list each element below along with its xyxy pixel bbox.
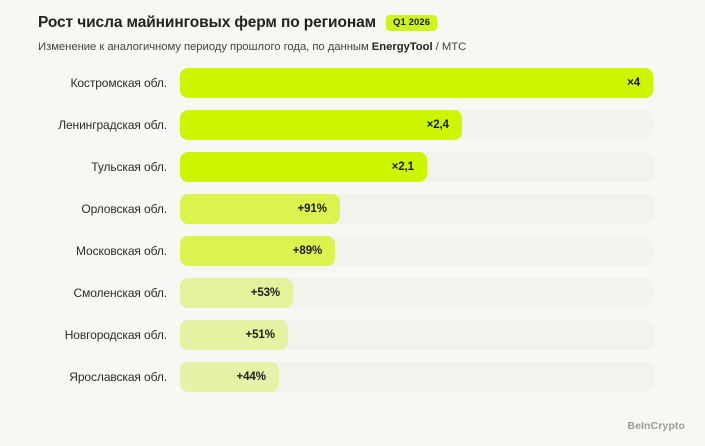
bar-row: Новгородская обл.+51%	[0, 320, 705, 350]
bar-value-label: +44%	[237, 371, 279, 383]
bar-fill[interactable]: +44%	[180, 362, 279, 392]
bar-chart: Костромская обл.×4Ленинградская обл.×2,4…	[0, 68, 705, 392]
bar-track: ×2,4	[180, 110, 653, 140]
bar-track: +51%	[180, 320, 653, 350]
bar-category-label: Орловская обл.	[0, 202, 180, 216]
bar-track: +53%	[180, 278, 653, 308]
bar-value-label: +53%	[251, 287, 293, 299]
bar-track: +89%	[180, 236, 653, 266]
bar-category-label: Ленинградская обл.	[0, 118, 180, 132]
bar-row: Тульская обл.×2,1	[0, 152, 705, 182]
page-title: Рост числа майнинговых ферм по регионам	[38, 14, 376, 32]
chart-header: Рост числа майнинговых ферм по регионам …	[0, 0, 705, 53]
bar-fill[interactable]: ×2,1	[180, 152, 427, 182]
bar-category-label: Ярославская обл.	[0, 370, 180, 384]
chart-subtitle: Изменение к аналогичному периоду прошлог…	[38, 41, 705, 53]
bar-value-label: ×4	[627, 77, 653, 89]
bar-value-label: ×2,4	[427, 119, 462, 131]
bar-fill[interactable]: +89%	[180, 236, 335, 266]
bar-value-label: ×2,1	[392, 161, 427, 173]
bar-value-label: +91%	[298, 203, 340, 215]
bar-fill[interactable]: +53%	[180, 278, 293, 308]
bar-value-label: +51%	[246, 329, 288, 341]
subtitle-text-before: Изменение к аналогичному периоду прошлог…	[38, 41, 372, 53]
subtitle-text-after: / МТС	[433, 41, 467, 53]
bar-fill[interactable]: ×4	[180, 68, 653, 98]
bar-category-label: Московская обл.	[0, 244, 180, 258]
bar-category-label: Костромская обл.	[0, 76, 180, 90]
bar-row: Ярославская обл.+44%	[0, 362, 705, 392]
period-badge: Q1 2026	[386, 15, 437, 31]
bar-row: Смоленская обл.+53%	[0, 278, 705, 308]
brand-watermark: BeInCrypto	[627, 420, 685, 432]
bar-row: Костромская обл.×4	[0, 68, 705, 98]
bar-fill[interactable]: +91%	[180, 194, 340, 224]
bar-row: Орловская обл.+91%	[0, 194, 705, 224]
bar-fill[interactable]: +51%	[180, 320, 288, 350]
title-row: Рост числа майнинговых ферм по регионам …	[38, 14, 705, 32]
bar-category-label: Новгородская обл.	[0, 328, 180, 342]
bar-track: +44%	[180, 362, 653, 392]
bar-category-label: Смоленская обл.	[0, 286, 180, 300]
bar-fill[interactable]: ×2,4	[180, 110, 462, 140]
bar-category-label: Тульская обл.	[0, 160, 180, 174]
bar-track: ×4	[180, 68, 653, 98]
bar-row: Ленинградская обл.×2,4	[0, 110, 705, 140]
bar-track: +91%	[180, 194, 653, 224]
bar-row: Московская обл.+89%	[0, 236, 705, 266]
subtitle-source: EnergyTool	[372, 41, 433, 53]
bar-track: ×2,1	[180, 152, 653, 182]
bar-value-label: +89%	[293, 245, 335, 257]
